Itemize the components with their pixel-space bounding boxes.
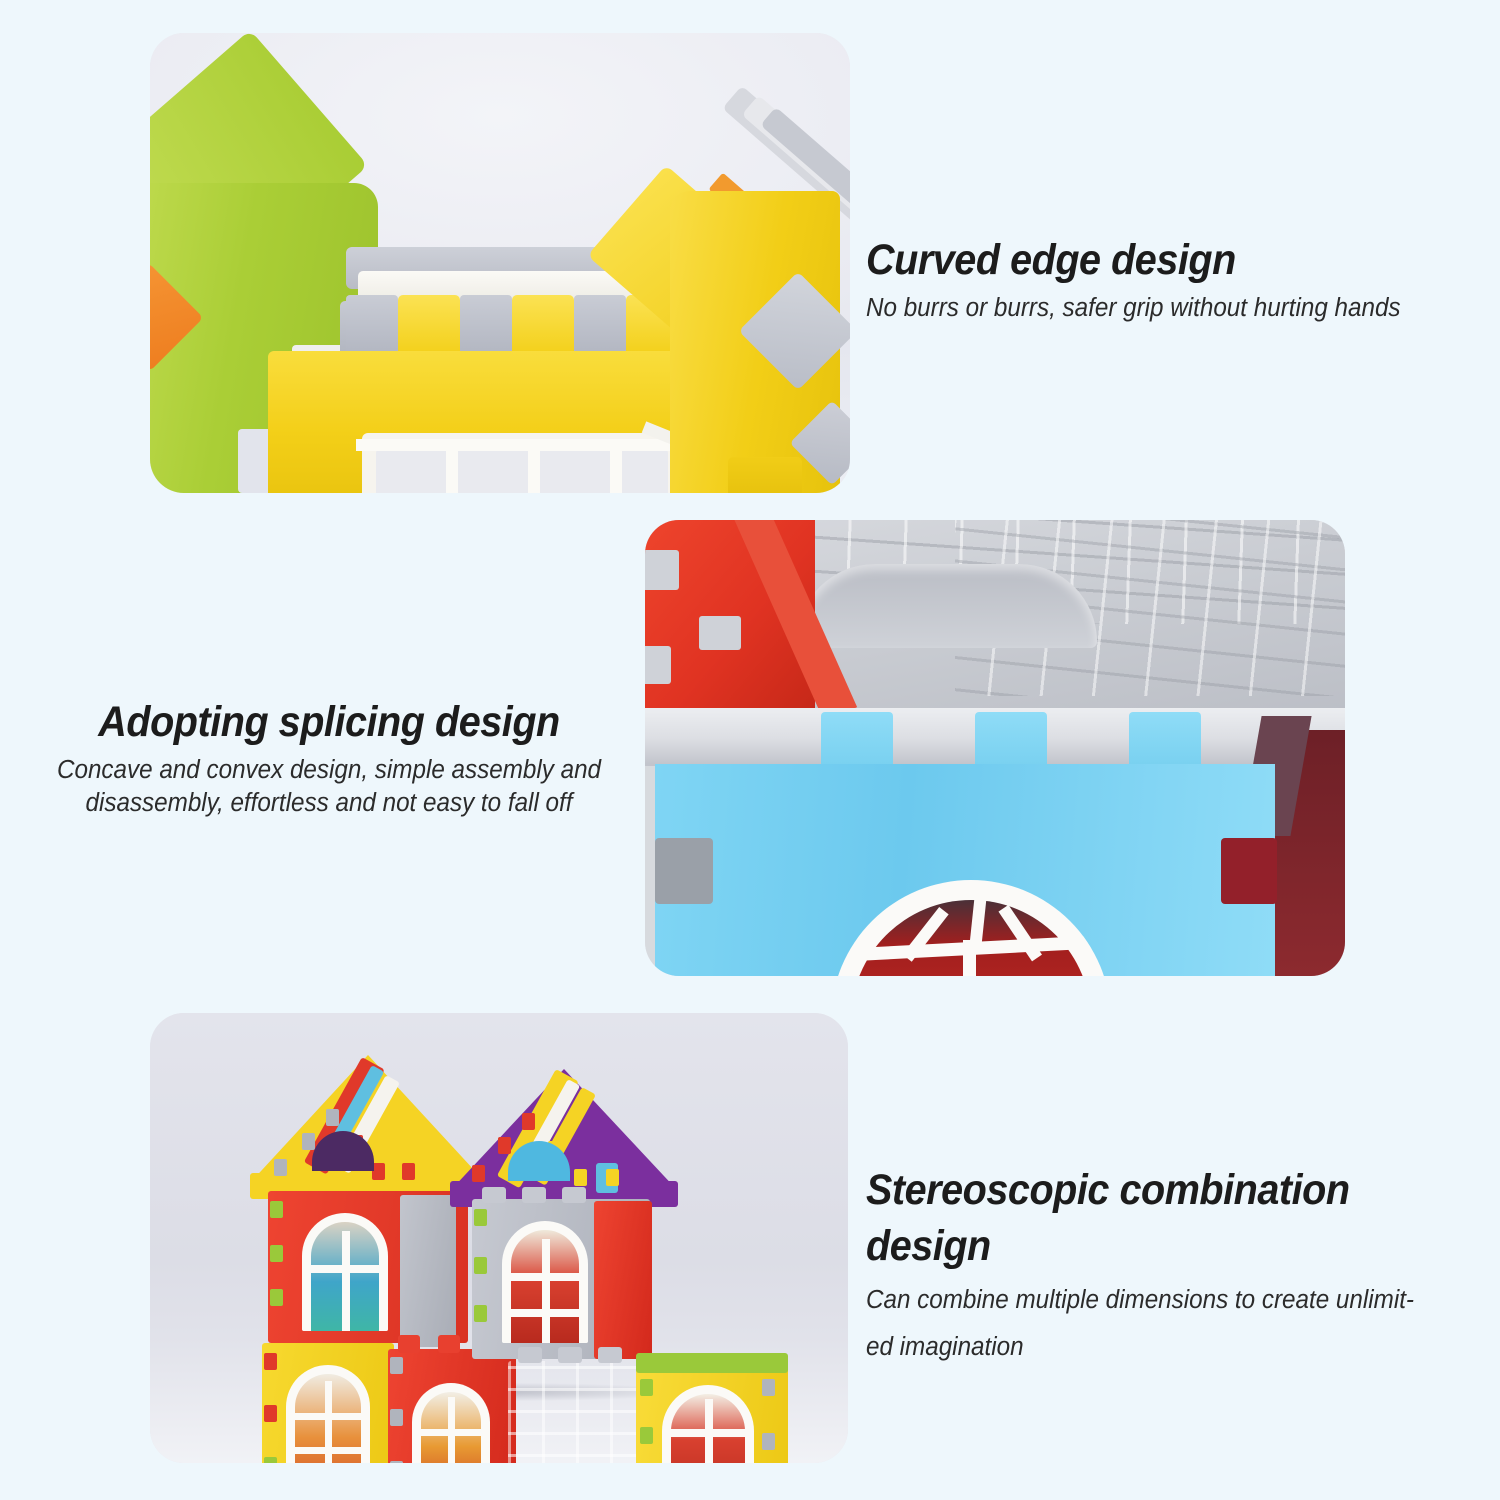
wall-stud <box>474 1305 487 1322</box>
window-mullion <box>542 1239 550 1343</box>
feature-image-stereoscopic <box>150 1013 848 1463</box>
feature-image-curved-edge <box>150 33 850 493</box>
window-lower-left <box>286 1365 370 1463</box>
wall-tooth <box>522 1187 546 1203</box>
block-yellow-foot-right <box>728 457 802 493</box>
wall-grey-brick-lower <box>508 1361 656 1463</box>
roof-stud <box>402 1163 415 1180</box>
block-yellow-gap-3 <box>574 295 626 355</box>
wall-stud <box>390 1461 403 1463</box>
window-upper-left <box>302 1213 388 1331</box>
wall-tooth <box>518 1347 542 1363</box>
roof-arch-recess <box>797 564 1097 648</box>
wall-stud <box>270 1245 283 1262</box>
block-white-window-mullion-2 <box>528 447 540 493</box>
wall-tooth <box>598 1347 622 1363</box>
roof-stud <box>498 1137 511 1154</box>
wall-stud <box>474 1257 487 1274</box>
block-yellow-tooth-2 <box>512 295 574 355</box>
roof-stud <box>302 1133 315 1150</box>
wall-tooth <box>398 1335 420 1353</box>
block-red-corner <box>645 520 815 712</box>
wall-stud <box>270 1289 283 1306</box>
block-red-notch-2 <box>645 646 671 684</box>
roof-stud <box>326 1109 339 1126</box>
block-white-window-mullion-3 <box>610 447 622 493</box>
wall-stud <box>390 1409 403 1426</box>
wall-tooth <box>438 1335 460 1353</box>
roof-stud <box>606 1169 619 1186</box>
block-blue-notch-left <box>655 838 713 904</box>
window-lower-middle <box>412 1383 490 1463</box>
block-yellow-tooth-1 <box>398 295 460 355</box>
window-mullion <box>963 940 976 976</box>
roof-stud <box>472 1165 485 1182</box>
block-white-window-rail <box>356 439 692 451</box>
feature-text-curved-edge: Curved edge design No burrs or burrs, sa… <box>866 236 1476 325</box>
wall-stud <box>474 1209 487 1226</box>
feature-subline-splicing-line1: Concave and convex design, simple assemb… <box>34 754 625 787</box>
wall-stud <box>264 1457 277 1463</box>
feature-text-splicing: Adopting splicing design Concave and con… <box>18 698 640 819</box>
window-mullion <box>448 1397 455 1463</box>
roof-stud <box>522 1113 535 1130</box>
roof-stud <box>574 1169 587 1186</box>
feature-subline-stereoscopic-line1: Can combine multiple dimensions to creat… <box>866 1284 1417 1317</box>
block-yellow-gap-2 <box>460 295 512 355</box>
wall-stud <box>270 1201 283 1218</box>
feature-image-splicing <box>645 520 1345 976</box>
window-mullion <box>325 1381 332 1463</box>
feature-subline-stereoscopic-line2: ed imagination <box>866 1331 1417 1364</box>
feature-headline-splicing: Adopting splicing design <box>43 698 615 746</box>
wall-stud <box>640 1379 653 1396</box>
block-red-notch-1 <box>645 550 679 590</box>
window-mullion <box>342 1231 350 1331</box>
feature-headline-stereoscopic-line2: design <box>866 1222 1400 1270</box>
feature-subline-curved-edge: No burrs or burrs, safer grip without hu… <box>866 292 1446 325</box>
wall-red-column-right <box>594 1201 652 1359</box>
feature-subline-splicing-line2: disassembly, effortless and not easy to … <box>34 787 625 820</box>
feature-headline-stereoscopic-line1: Stereoscopic combination <box>866 1166 1400 1214</box>
wall-stud <box>762 1379 775 1396</box>
window-mullion <box>705 1399 713 1463</box>
wall-tooth <box>562 1187 586 1203</box>
block-yellow-gap-1 <box>346 295 398 355</box>
assembled-toy-house <box>150 1013 848 1463</box>
block-red-notch-3 <box>699 616 741 650</box>
infographic-stage: Curved edge design No burrs or burrs, sa… <box>0 0 1500 1500</box>
wall-grey-column-left <box>400 1195 456 1347</box>
feature-headline-curved-edge: Curved edge design <box>866 236 1427 284</box>
wall-tooth <box>482 1187 506 1203</box>
wall-top-green-right <box>636 1353 788 1373</box>
roof-stud <box>274 1159 287 1176</box>
window-upper-right <box>502 1221 588 1343</box>
block-blue-notch-right <box>1221 838 1277 904</box>
wall-stud <box>264 1353 277 1370</box>
wall-tooth <box>558 1347 582 1363</box>
wall-stud <box>640 1427 653 1444</box>
wall-stud <box>264 1405 277 1422</box>
feature-text-stereoscopic: Stereoscopic combination design Can comb… <box>866 1166 1446 1364</box>
wall-stud <box>762 1433 775 1450</box>
wall-stud <box>390 1357 403 1374</box>
block-white-window-mullion-1 <box>446 447 458 493</box>
